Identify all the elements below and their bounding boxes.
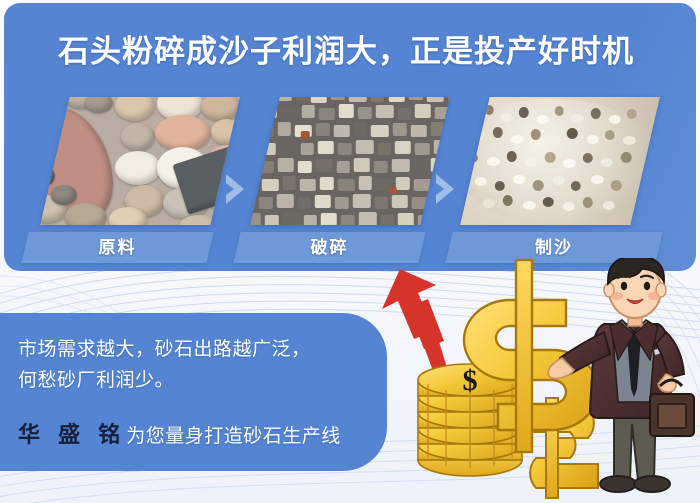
coin-dollar-symbol: $: [463, 364, 478, 397]
brand-tagline: 为您量身打造砂石生产线: [126, 426, 341, 447]
chevron-right-icon: [222, 172, 252, 206]
page-title: 石头粉碎成沙子利润大，正是投产好时机: [0, 26, 692, 71]
brand-line: 华 盛 铭为您量身打造砂石生产线: [18, 417, 341, 449]
crushed-gravel-photo: [250, 97, 450, 225]
slogan-line-1: 市场需求越大，砂石出路越广泛，: [18, 334, 311, 361]
river-pebbles-photo: [40, 97, 240, 225]
slogan-line-2: 何愁砂厂利润少。: [18, 365, 174, 392]
process-label-text: 原料: [25, 232, 210, 263]
slogan-panel: 市场需求越大，砂石出路越广泛， 何愁砂厂利润少。 华 盛 铭为您量身打造砂石生产…: [0, 313, 387, 471]
process-photo-crushing: [250, 97, 450, 225]
process-photo-sand-making: [460, 97, 660, 225]
process-label-crushing: 破碎: [233, 232, 425, 263]
profit-illustration: $: [398, 258, 700, 503]
process-label-raw-material: 原料: [21, 232, 213, 263]
process-label-text: 破碎: [237, 232, 422, 263]
process-photo-raw-material: [40, 97, 240, 225]
chevron-right-icon: [432, 172, 462, 206]
poster-root: 石头粉碎成沙子利润大，正是投产好时机: [0, 0, 700, 503]
manufactured-sand-photo: [460, 97, 660, 225]
brand-name: 华 盛 铭: [18, 422, 126, 447]
